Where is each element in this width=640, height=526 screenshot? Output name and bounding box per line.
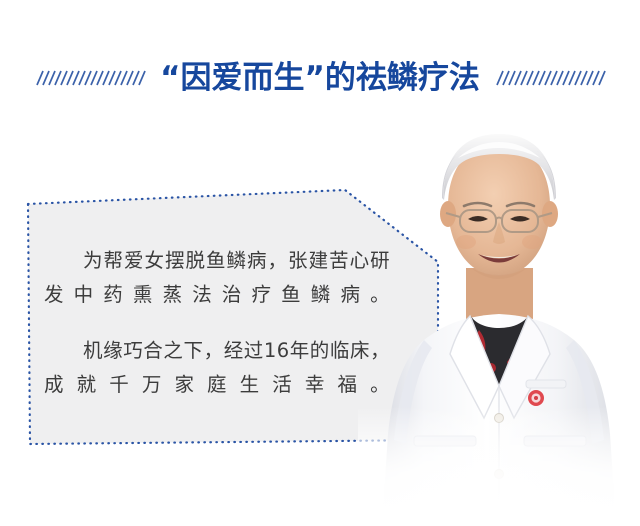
quote-paragraph-2: 机缘巧合之下，经过16年的临床，成就千万家庭生活幸福。 xyxy=(44,334,390,402)
doctor-portrait xyxy=(358,118,640,526)
quote-paragraph-1: 为帮爱女摆脱鱼鳞病，张建苦心研发中药熏蒸法治疗鱼鳞病。 xyxy=(44,244,390,312)
page-root: “因爱而生”的祛鳞疗法 xyxy=(0,0,640,526)
hatch-lines-right-icon xyxy=(494,70,606,86)
quote-text-block: 为帮爱女摆脱鱼鳞病，张建苦心研发中药熏蒸法治疗鱼鳞病。 机缘巧合之下，经过16年… xyxy=(44,244,390,402)
page-title: “因爱而生”的祛鳞疗法 xyxy=(160,63,480,94)
page-header: “因爱而生”的祛鳞疗法 xyxy=(0,52,640,104)
hatch-lines-left-icon xyxy=(34,70,146,86)
